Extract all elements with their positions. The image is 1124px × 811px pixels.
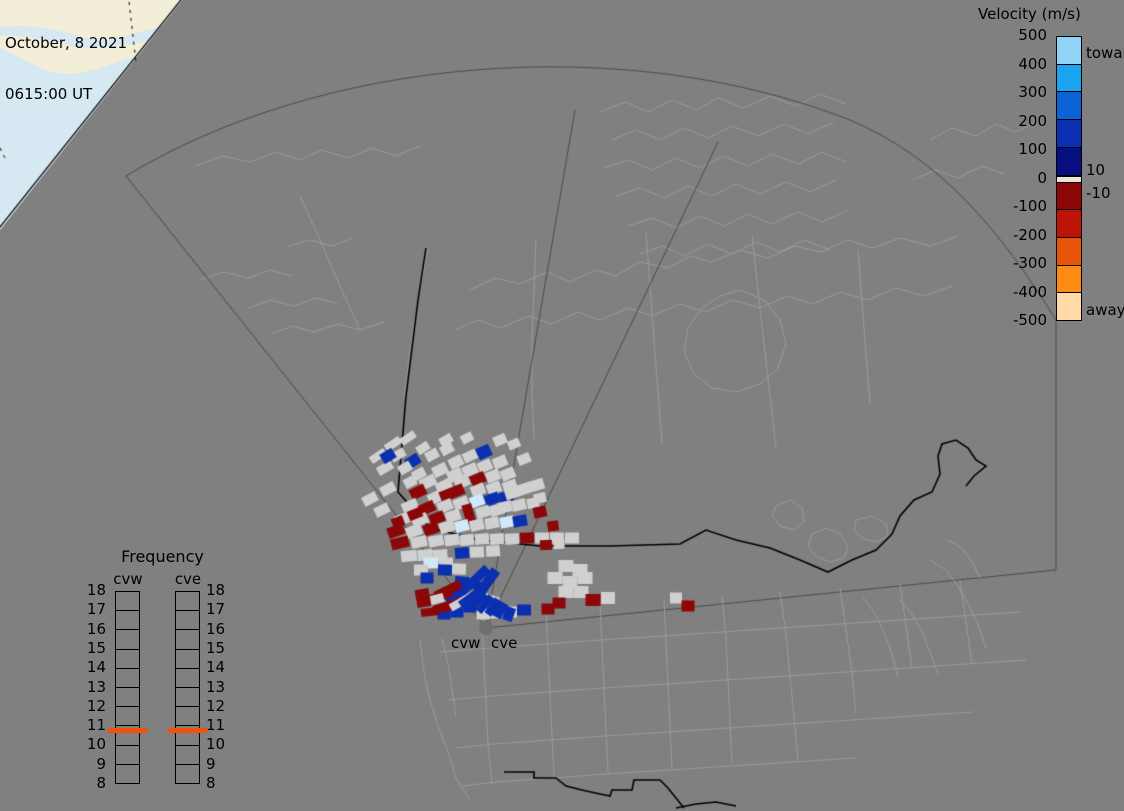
frequency-band <box>116 746 139 765</box>
frequency-tick-label-left: 13 <box>84 680 106 695</box>
velocity-band <box>1057 266 1081 294</box>
frequency-tick-label-left: 12 <box>84 699 106 714</box>
velocity-band <box>1057 183 1081 211</box>
frequency-band <box>176 746 199 765</box>
frequency-tick-label-right: 14 <box>206 660 228 675</box>
frequency-legend-title: Frequency <box>80 547 245 566</box>
frequency-band <box>116 688 139 707</box>
velocity-band <box>1057 120 1081 148</box>
frequency-band <box>116 650 139 669</box>
velocity-tick-label: 0 <box>975 171 1047 186</box>
frequency-column-header-cve: cve <box>168 570 208 588</box>
frequency-band <box>176 592 199 611</box>
frequency-tick-label-right: 11 <box>206 718 228 733</box>
frequency-tick-label-right: 16 <box>206 622 228 637</box>
frequency-band <box>116 707 139 726</box>
frequency-tick-label-right: 9 <box>206 757 228 772</box>
frequency-band <box>116 765 139 783</box>
frequency-band <box>176 688 199 707</box>
frequency-band <box>116 592 139 611</box>
frequency-tick-label-left: 18 <box>84 583 106 598</box>
frequency-tick-label-left: 9 <box>84 757 106 772</box>
velocity-legend-title: Velocity (m/s) <box>978 5 1081 23</box>
velocity-band <box>1057 293 1081 320</box>
frequency-tick-label-right: 18 <box>206 583 228 598</box>
frequency-tick-label-left: 11 <box>84 718 106 733</box>
velocity-inner-tick-high: 10 <box>1086 163 1105 178</box>
radar-map-application: October, 8 2021 0615:00 UT Velocity (m/s… <box>0 0 1124 811</box>
frequency-band <box>176 669 199 688</box>
velocity-tick-label: 200 <box>975 114 1047 129</box>
velocity-tick-label: -100 <box>975 199 1047 214</box>
frequency-tick-label-left: 10 <box>84 737 106 752</box>
velocity-legend: Velocity (m/s) 5004003002001000-100-200-… <box>975 0 1124 330</box>
frequency-legend: Frequency cvwcve181817171616151514141313… <box>80 545 245 785</box>
frequency-marker-cve <box>168 728 207 733</box>
frequency-tick-label-left: 14 <box>84 660 106 675</box>
velocity-tick-label: 100 <box>975 142 1047 157</box>
timestamp-time: 0615:00 UT <box>5 86 127 103</box>
frequency-band <box>116 669 139 688</box>
frequency-tick-label-right: 13 <box>206 680 228 695</box>
velocity-tick-label: 300 <box>975 85 1047 100</box>
frequency-column-header-cvw: cvw <box>108 570 148 588</box>
velocity-label-away: away <box>1086 303 1124 318</box>
velocity-band <box>1057 148 1081 176</box>
velocity-band-gap <box>1057 176 1081 183</box>
frequency-tick-label-right: 10 <box>206 737 228 752</box>
timestamp-date: October, 8 2021 <box>5 35 127 52</box>
frequency-band <box>176 707 199 726</box>
frequency-tick-label-left: 17 <box>84 602 106 617</box>
station-label-cve: cve <box>491 634 517 652</box>
velocity-band <box>1057 37 1081 65</box>
velocity-tick-label: -200 <box>975 228 1047 243</box>
frequency-marker-cvw <box>108 728 147 733</box>
frequency-tick-label-right: 15 <box>206 641 228 656</box>
frequency-scale-cve <box>175 591 200 784</box>
frequency-band <box>176 630 199 649</box>
frequency-band <box>116 611 139 630</box>
velocity-tick-label: -300 <box>975 256 1047 271</box>
station-label-cvw: cvw <box>451 634 480 652</box>
frequency-scale-cvw <box>115 591 140 784</box>
velocity-label-toward: toward <box>1086 46 1124 61</box>
velocity-tick-label: 500 <box>975 28 1047 43</box>
frequency-tick-label-right: 8 <box>206 776 228 791</box>
velocity-band <box>1057 65 1081 93</box>
timestamp: October, 8 2021 0615:00 UT <box>5 1 127 137</box>
frequency-band <box>176 650 199 669</box>
frequency-band <box>176 765 199 783</box>
velocity-band <box>1057 92 1081 120</box>
velocity-tick-label: -500 <box>975 313 1047 328</box>
velocity-colorbar <box>1056 36 1082 321</box>
frequency-tick-label-left: 16 <box>84 622 106 637</box>
velocity-tick-label: 400 <box>975 57 1047 72</box>
frequency-band <box>116 630 139 649</box>
velocity-band <box>1057 238 1081 266</box>
velocity-tick-label: -400 <box>975 285 1047 300</box>
frequency-tick-label-left: 8 <box>84 776 106 791</box>
frequency-tick-label-right: 17 <box>206 602 228 617</box>
frequency-tick-label-left: 15 <box>84 641 106 656</box>
velocity-band <box>1057 210 1081 238</box>
velocity-inner-tick-low: -10 <box>1086 186 1111 201</box>
frequency-band <box>176 611 199 630</box>
frequency-tick-label-right: 12 <box>206 699 228 714</box>
